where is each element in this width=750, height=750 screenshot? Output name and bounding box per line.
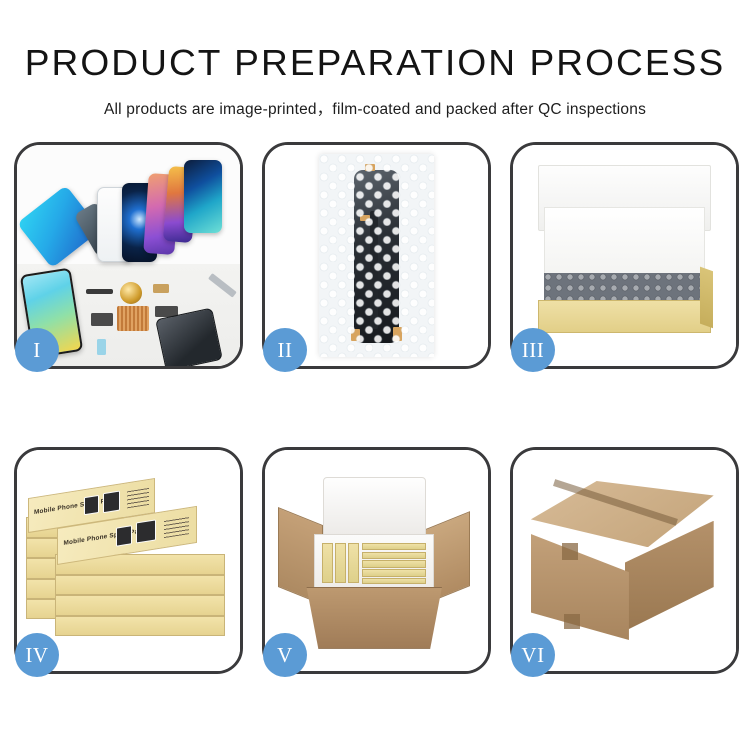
step-badge-6: VI: [511, 633, 555, 677]
packed-box-6: [362, 560, 426, 568]
packed-box-8: [362, 578, 426, 584]
packed-box-5: [362, 552, 426, 560]
page-subtitle: All products are image-printed，film-coat…: [0, 97, 750, 119]
vibration-motor-icon: [120, 282, 142, 304]
process-step-card-3[interactable]: III Open yellow kraft box with white foa…: [510, 142, 739, 369]
earpiece-mesh: [86, 289, 113, 295]
carton-tape-tab-lower: [564, 614, 580, 629]
connector-small-2: [97, 339, 106, 354]
flex-cable-1: [91, 313, 113, 326]
bubble-texture: [319, 154, 435, 357]
white-foam-sheet: [544, 207, 705, 276]
box-print-screen-b: [103, 490, 121, 513]
box-print-spec-lines-top: [127, 487, 150, 507]
stack-right-box-4: [55, 616, 225, 636]
box-label-text-second: Mobile Phone Spare Parts: [63, 527, 147, 547]
box-stack: Mobile Phone Spare Parts Mobile Phone Sp…: [26, 477, 231, 663]
box-print-screen-c: [115, 525, 132, 547]
process-step-grid: I Assorted mobile phones, screen protect…: [14, 142, 738, 674]
foam-cooler-body: [314, 534, 434, 591]
process-step-card-1[interactable]: I Assorted mobile phones, screen protect…: [14, 142, 243, 369]
packed-box-1: [322, 543, 333, 583]
carton-tape-tab-upper: [562, 543, 578, 561]
header: PRODUCT PREPARATION PROCESS All products…: [0, 0, 750, 119]
stack-right-box-3: [55, 595, 225, 615]
carton-body: [301, 587, 448, 649]
packed-box-4: [362, 543, 426, 551]
packed-box-3: [348, 543, 359, 583]
process-step-card-5[interactable]: V Open carton with white foam cooler pac…: [262, 447, 491, 674]
page-title: PRODUCT PREPARATION PROCESS: [0, 45, 750, 81]
step-badge-4: IV: [15, 633, 59, 677]
box-print-screen-d: [136, 520, 155, 544]
packed-box-7: [362, 569, 426, 577]
logic-board-chip: [117, 306, 148, 330]
box-print-spec-lines-second: [164, 517, 189, 538]
process-step-card-2[interactable]: II Phone LCD screen sealed in bubble wra…: [262, 142, 491, 369]
step-badge-3: III: [511, 328, 555, 372]
packed-box-2: [335, 543, 346, 583]
stack-right-box-2: [55, 575, 225, 595]
bubble-bag: [319, 154, 435, 357]
product-preparation-infographic: PRODUCT PREPARATION PROCESS All products…: [0, 0, 750, 750]
step-badge-2: II: [263, 328, 307, 372]
step-badge-1: I: [15, 328, 59, 372]
process-step-card-6[interactable]: VI Sealed brown cardboard shipping carto…: [510, 447, 739, 674]
box-front-wall: [538, 300, 712, 333]
box-side-wall: [700, 266, 713, 328]
connector-small-1: [153, 284, 169, 293]
phone-display-teal: [184, 160, 222, 233]
process-step-card-4[interactable]: Mobile Phone Spare Parts Mobile Phone Sp…: [14, 447, 243, 674]
step-badge-5: V: [263, 633, 307, 677]
box-print-screen-a: [84, 495, 99, 515]
foam-cooler-lid: [323, 477, 426, 539]
